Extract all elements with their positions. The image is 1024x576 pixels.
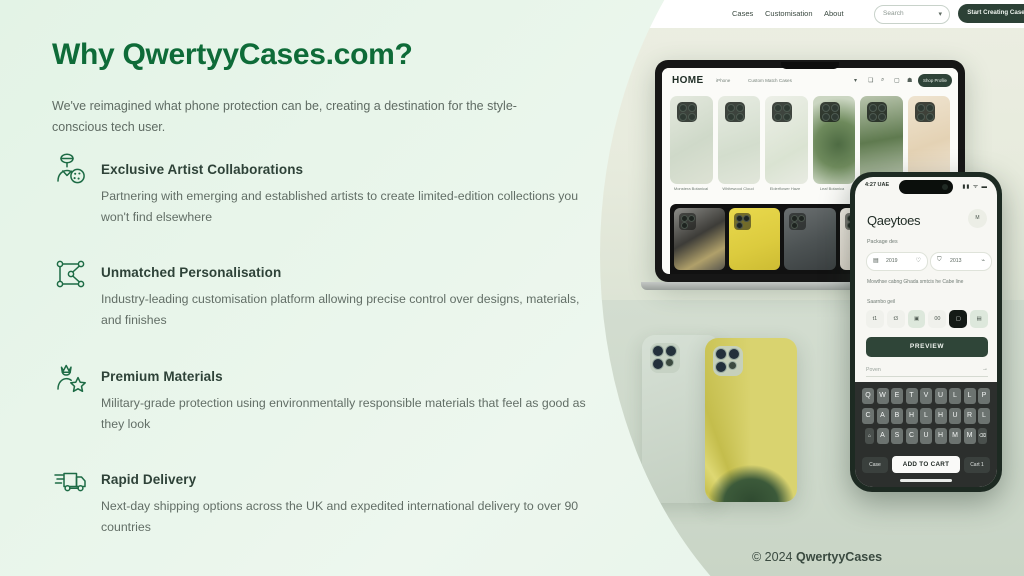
left-content-panel: Why QwertyyCases.com? We've reimagined w… — [0, 0, 620, 576]
laptop-home-label[interactable]: HOME — [672, 75, 704, 86]
product-case-card[interactable] — [718, 96, 761, 184]
key[interactable]: P — [978, 388, 990, 404]
nav-link-cases[interactable]: Cases — [732, 9, 753, 18]
mock-cta-label: Start Creating Case — [958, 9, 1024, 16]
mock-start-creating-button[interactable]: Start Creating Case — [958, 4, 1024, 23]
phone-thumbnail[interactable] — [674, 208, 725, 270]
chevron-down-icon: ▾ — [938, 10, 942, 18]
keyboard-row: C A B H L H U R L — [855, 408, 997, 424]
copyright-text: © 2024 QwertyyCases — [752, 550, 882, 564]
case-button[interactable]: Case — [862, 457, 888, 473]
laptop-shop-profile-button[interactable]: Shop Profile — [918, 74, 952, 87]
feature-title: Exclusive Artist Collaborations — [101, 162, 303, 177]
pill-value: 2013 — [950, 258, 962, 264]
cart-button[interactable]: Cart 1 — [964, 457, 990, 473]
phone-option-pill[interactable]: ▤ 2019 ♡ — [866, 252, 928, 271]
product-case-card[interactable] — [860, 96, 903, 184]
laptop-cta-label: Shop Profile — [918, 78, 952, 83]
key[interactable]: R — [964, 408, 976, 424]
add-to-cart-button[interactable]: ADD TO CART — [892, 456, 960, 473]
dynamic-island — [899, 180, 953, 194]
phone-body-text: Mowthse cabng Ghada smtcis he Cabe line — [867, 278, 989, 286]
key[interactable]: L — [949, 388, 961, 404]
preview-button[interactable]: PREVIEW — [866, 337, 988, 357]
product-case-card[interactable] — [670, 96, 713, 184]
heart-icon[interactable]: ♡ — [916, 257, 921, 264]
search-placeholder: Search — [883, 10, 904, 17]
phone-status-icons: ▮▮ ᯤ ▬ — [962, 182, 988, 190]
camera-module-icon — [915, 102, 935, 122]
chevron-down-icon[interactable]: ▾ — [854, 77, 857, 84]
swatch-option-selected[interactable]: ▢ — [949, 310, 967, 328]
phone-text-input[interactable]: Poven → — [866, 367, 988, 377]
search-icon[interactable]: ⌕ — [881, 77, 884, 84]
swatch-option[interactable]: ▣ — [908, 310, 926, 328]
camera-module-icon — [679, 213, 696, 230]
input-placeholder: Poven — [866, 367, 881, 373]
sliders-icon[interactable]: ⌁ — [981, 257, 985, 264]
mock-site-logo[interactable]: ases — [628, 7, 649, 18]
front-camera-icon — [942, 184, 948, 190]
page-title: Why QwertyyCases.com? — [52, 38, 413, 72]
phone-swatch-row: t1 t3 ▣ 00 ▢ ▤ — [866, 310, 988, 328]
crown-star-icon — [52, 359, 90, 397]
swatch-option[interactable]: 00 — [928, 310, 946, 328]
laptop-product-grid-top — [670, 96, 950, 184]
mock-site-navbar: ases Cases Customisation About Search ▾ … — [600, 0, 1024, 28]
camera-module-icon — [820, 102, 840, 122]
bag-icon[interactable]: ▢ — [894, 77, 900, 84]
feature-description: Next-day shipping options across the UK … — [101, 496, 596, 537]
swatch-option[interactable]: ▤ — [970, 310, 988, 328]
key[interactable]: S — [891, 428, 903, 444]
key[interactable]: M — [949, 428, 961, 444]
home-indicator — [900, 479, 952, 482]
camera-module-icon — [713, 346, 743, 376]
key[interactable]: L — [920, 408, 932, 424]
keyboard-row: ⌂ A S C U H M M ⌫ — [855, 428, 997, 444]
feature-title: Unmatched Personalisation — [101, 265, 281, 280]
product-case-card[interactable] — [908, 96, 951, 184]
feature-description: Industry-leading customisation platform … — [101, 289, 596, 330]
product-case-card[interactable] — [765, 96, 808, 184]
phone-app-brand: Qaeytoes — [867, 213, 920, 228]
keyboard-row: Q W E T V U L L P — [855, 388, 997, 404]
copyright-mark: © 2024 — [752, 550, 796, 564]
presentation-slide: Why QwertyyCases.com? We've reimagined w… — [0, 0, 1024, 576]
phone-option-pill[interactable]: ⛉ 2013 ⌁ — [930, 252, 992, 271]
product-case-card[interactable] — [813, 96, 856, 184]
key[interactable]: U — [935, 388, 947, 404]
laptop-breadcrumb-2[interactable]: Custom Match Cases — [748, 78, 792, 83]
product-label: Elderflower Haze — [762, 186, 808, 192]
feature-description: Military-grade protection using environm… — [101, 393, 596, 434]
key[interactable]: M — [964, 428, 976, 444]
camera-module-icon — [725, 102, 745, 122]
arc-mask: ases Cases Customisation About Search ▾ … — [600, 0, 1024, 576]
key[interactable]: H — [935, 428, 947, 444]
nav-link-customisation[interactable]: Customisation — [765, 9, 813, 18]
camera-module-icon — [734, 213, 751, 230]
camera-module-icon — [772, 102, 792, 122]
key[interactable]: B — [891, 408, 903, 424]
delivery-truck-icon — [52, 462, 90, 500]
camera-module-icon — [650, 343, 680, 373]
key[interactable]: U — [920, 428, 932, 444]
laptop-site-header: HOME iPhone Custom Match Cases ▾ ❏ ⌕ ▢ ☗… — [662, 68, 958, 94]
camera-module-icon — [789, 213, 806, 230]
phone-action-bar: Case ADD TO CART Cart 1 — [855, 455, 997, 474]
avatar[interactable]: M — [968, 209, 987, 228]
shift-key[interactable]: ⌂ — [865, 428, 874, 444]
intro-paragraph: We've reimagined what phone protection c… — [52, 96, 552, 138]
feature-title: Rapid Delivery — [101, 472, 196, 487]
phone-mockup: 4:27 UAE ▮▮ ᯤ ▬ Qaeytoes M Package des ▤… — [850, 172, 1002, 492]
key[interactable]: A — [877, 428, 889, 444]
phone-thumbnail[interactable] — [729, 208, 780, 270]
product-label: Leaf Botanica — [809, 186, 855, 192]
product-case-palm-print[interactable] — [705, 338, 797, 502]
phone-section-label: Package des — [867, 239, 898, 245]
swatch-option[interactable]: t1 — [866, 310, 884, 328]
key[interactable]: H — [906, 408, 918, 424]
calendar-icon: ▤ — [873, 257, 879, 264]
arrow-right-icon[interactable]: → — [982, 366, 988, 372]
phone-status-time: 4:27 UAE — [865, 182, 889, 188]
phone-screen: 4:27 UAE ▮▮ ᯤ ▬ Qaeytoes M Package des ▤… — [855, 177, 997, 487]
phone-sub-label: Saarnbo geil — [867, 299, 895, 305]
key[interactable]: Q — [862, 388, 874, 404]
product-label: Whitewood Cloud — [715, 186, 761, 192]
key[interactable]: E — [891, 388, 903, 404]
camera-module-icon — [677, 102, 697, 122]
backspace-key[interactable]: ⌫ — [978, 428, 987, 444]
key[interactable]: U — [949, 408, 961, 424]
product-showcase-image: ases Cases Customisation About Search ▾ … — [600, 0, 1024, 576]
laptop-breadcrumb-1[interactable]: iPhone — [716, 78, 730, 83]
key[interactable]: C — [906, 428, 918, 444]
vector-nodes-icon — [52, 255, 90, 293]
key[interactable]: A — [877, 408, 889, 424]
key[interactable]: V — [920, 388, 932, 404]
bookmark-icon[interactable]: ❏ — [868, 77, 873, 84]
camera-module-icon — [867, 102, 887, 122]
product-label: Monstera Botanical — [668, 186, 714, 192]
key[interactable]: T — [906, 388, 918, 404]
pill-value: 2019 — [886, 258, 898, 264]
phone-thumbnail[interactable] — [784, 208, 835, 270]
copyright-brand: QwertyyCases — [796, 550, 882, 564]
nav-link-about[interactable]: About — [824, 9, 844, 18]
shield-icon: ⛉ — [937, 257, 942, 264]
key[interactable]: L — [978, 408, 990, 424]
key[interactable]: W — [877, 388, 889, 404]
key[interactable]: H — [935, 408, 947, 424]
key[interactable]: L — [964, 388, 976, 404]
key[interactable]: C — [862, 408, 874, 424]
mock-search-input[interactable]: Search ▾ — [874, 5, 950, 24]
on-screen-keyboard: Q W E T V U L L P C A — [855, 382, 997, 487]
artist-palette-icon — [52, 152, 90, 190]
feature-title: Premium Materials — [101, 369, 223, 384]
feature-description: Partnering with emerging and established… — [101, 186, 596, 227]
user-icon[interactable]: ☗ — [907, 77, 912, 84]
swatch-option[interactable]: t3 — [887, 310, 905, 328]
laptop-notch — [781, 62, 839, 69]
